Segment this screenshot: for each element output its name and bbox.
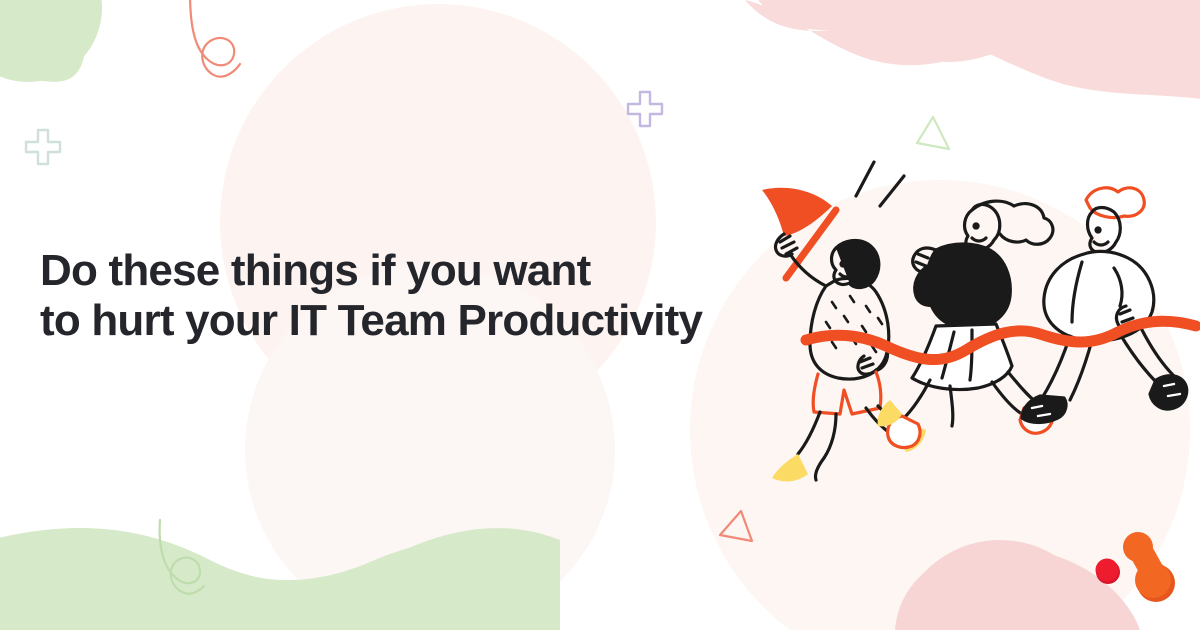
teal-plus-icon xyxy=(26,130,60,164)
coral-swirl-top-left xyxy=(190,0,240,77)
headline-line-1: Do these things if you want xyxy=(40,246,840,296)
headline: Do these things if you want to hurt your… xyxy=(40,246,840,346)
headline-line-2: to hurt your IT Team Productivity xyxy=(40,296,840,346)
logo-node-top xyxy=(1123,532,1153,562)
motion-lines xyxy=(856,162,904,206)
runner-with-cap xyxy=(1022,188,1187,423)
logo-node-bottom-highlight xyxy=(1135,562,1171,598)
green-triangle-icon xyxy=(917,117,949,149)
molecule-logo[interactable] xyxy=(1086,528,1182,606)
lavender-plus-icon xyxy=(628,92,662,126)
promo-banner: Do these things if you want to hurt your… xyxy=(0,0,1200,630)
logo-dot xyxy=(1096,559,1119,582)
green-circle-top-left xyxy=(0,0,102,82)
